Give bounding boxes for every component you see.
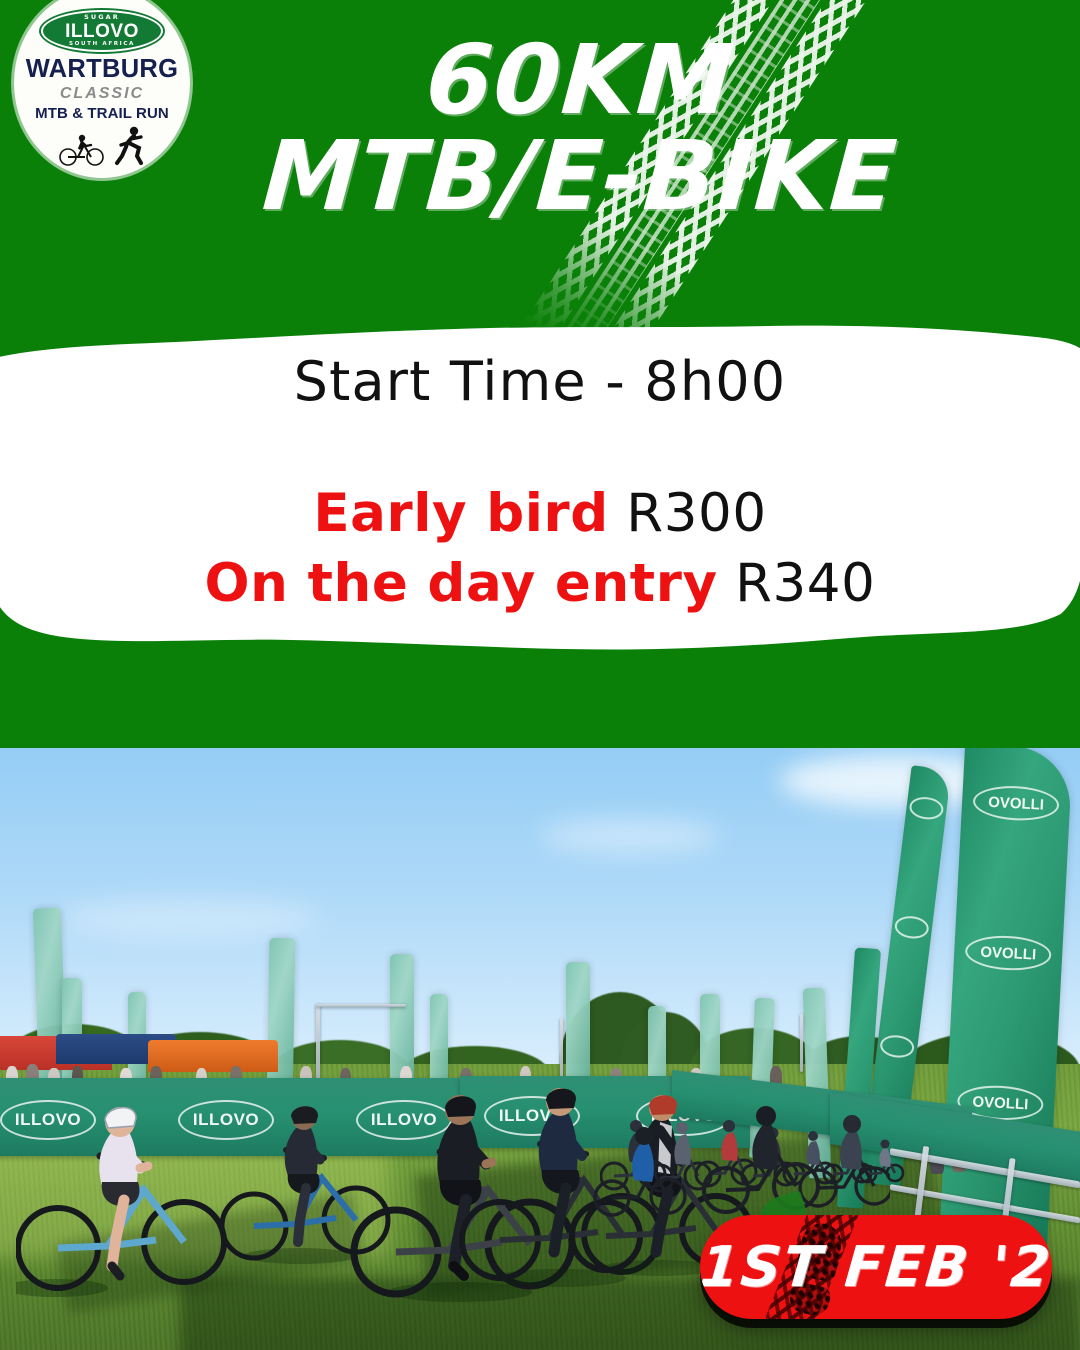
cloud: [60, 898, 320, 938]
panel-text-block: Start Time - 8h00 Early bird R300 On the…: [0, 318, 1080, 688]
illovo-sponsor-logo: SUGAR ILLOVO SOUTH AFRICA: [41, 10, 163, 52]
gantry-pole: [800, 1014, 803, 1072]
price-amount-early-bird: R300: [626, 483, 766, 544]
date-badge-text: 21ST FEB '26: [700, 1235, 1052, 1300]
badge-sport-icons: [58, 126, 146, 166]
runner-icon: [114, 126, 146, 166]
headline-line-2: MTB/E-BIKE: [197, 132, 963, 220]
poster-headline: 60KM MTB/E-BIKE: [200, 36, 960, 221]
badge-event-disciplines: MTB & TRAIL RUN: [35, 106, 169, 121]
price-label-early-bird: Early bird: [313, 483, 608, 544]
badge-event-subtitle: CLASSIC: [60, 85, 144, 103]
cloud: [540, 818, 720, 854]
event-tent: [148, 1040, 278, 1072]
date-badge[interactable]: 21ST FEB '26: [700, 1215, 1052, 1319]
price-row-early-bird: Early bird R300: [313, 479, 766, 549]
illovo-country-text: SOUTH AFRICA: [69, 42, 135, 48]
start-time-text: Start Time - 8h00: [294, 350, 787, 413]
headline-line-1: 60KM: [197, 36, 963, 124]
gantry-pole: [316, 1004, 320, 1082]
event-logo-badge: SUGAR ILLOVO SOUTH AFRICA WARTBURG CLASS…: [14, 0, 190, 178]
cyclist: [592, 1116, 712, 1230]
info-panel: Start Time - 8h00 Early bird R300 On the…: [0, 318, 1080, 688]
price-label-on-the-day: On the day entry: [205, 553, 718, 614]
feather-banner-logo: [879, 1033, 916, 1059]
illovo-sugar-text: SUGAR: [84, 14, 120, 21]
badge-event-name: WARTBURG: [26, 57, 179, 83]
feather-banner-logo: [908, 795, 945, 821]
illovo-name-text: ILLOVO: [65, 22, 139, 41]
poster-root: SUGAR ILLOVO SOUTH AFRICA WARTBURG CLASS…: [0, 0, 1080, 1350]
feather-banner-logo: OVOLLI: [964, 934, 1052, 972]
price-row-on-the-day: On the day entry R340: [205, 549, 876, 619]
price-amount-on-the-day: R340: [735, 553, 875, 614]
cyclist-icon: [58, 132, 106, 166]
gantry-crossbar: [316, 1004, 406, 1007]
feather-banner-logo: OVOLLI: [972, 784, 1060, 822]
feather-banner-logo: [894, 914, 931, 940]
